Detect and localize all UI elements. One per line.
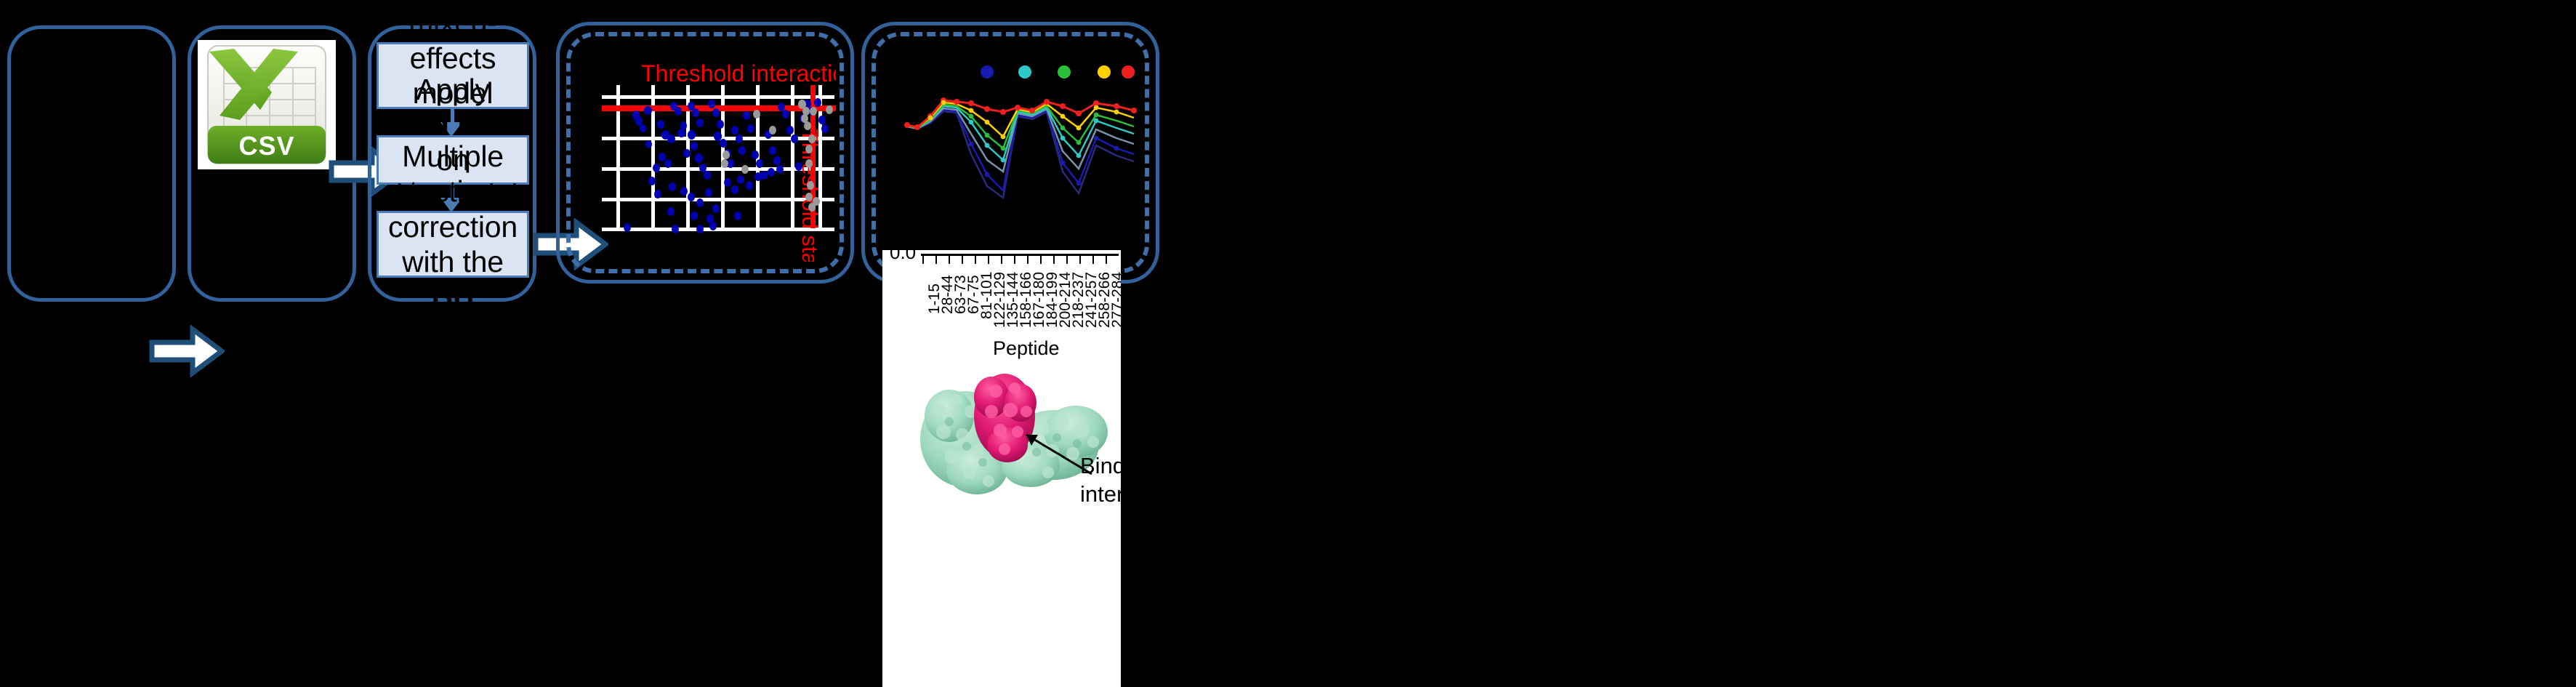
- x-axis-tick: [1106, 256, 1107, 264]
- x-axis-line: [921, 254, 1119, 256]
- x-axis-tick: [1027, 256, 1029, 264]
- x-axis-tick: [1066, 256, 1068, 264]
- binding-interface-annotation: Binding interface: [1080, 452, 1121, 509]
- csv-file-icon: CSV: [198, 40, 336, 169]
- x-axis-tick: [1040, 256, 1042, 264]
- x-axis-tick: [935, 256, 937, 264]
- threshold-interaction-label: Threshold interaction: [641, 62, 836, 87]
- x-axis-tick: [1092, 256, 1094, 264]
- x-axis-tick: [988, 256, 989, 264]
- diagram-canvas: CSV Fit a linear mixed- effects model wi…: [0, 0, 2576, 687]
- scatter-plot: Threshold interaction Threshold state: [581, 62, 836, 262]
- process-box-bh[interactable]: Multiple testing correction with the BH …: [377, 211, 529, 278]
- panel-input: [7, 25, 176, 302]
- x-axis-tick: [1053, 256, 1055, 264]
- y-axis-tick-0: 0.0: [890, 250, 916, 264]
- x-axis-tick: [962, 256, 963, 264]
- x-axis-tick: [922, 256, 924, 264]
- x-axis-title: Peptide: [993, 337, 1060, 360]
- x-axis-tick: [975, 256, 976, 264]
- peptide-line-chart: [901, 58, 1141, 204]
- x-axis-tick: [949, 256, 950, 264]
- process-box-bh-text: Multiple testing correction with the BH …: [385, 139, 521, 350]
- svg-text:CSV: CSV: [238, 131, 294, 161]
- x-axis-tick: [1079, 256, 1081, 264]
- x-axis-tick: [1014, 256, 1015, 264]
- x-axis-tick: [1001, 256, 1002, 264]
- flow-arrow-1: [149, 325, 225, 377]
- grid-line-h: [602, 95, 834, 99]
- figure-white-area: 0.0 1-15 28-44 63-73 67-75 81-101 122-12…: [882, 250, 1121, 687]
- x-axis-label-peptide: 277-284: [1109, 272, 1121, 328]
